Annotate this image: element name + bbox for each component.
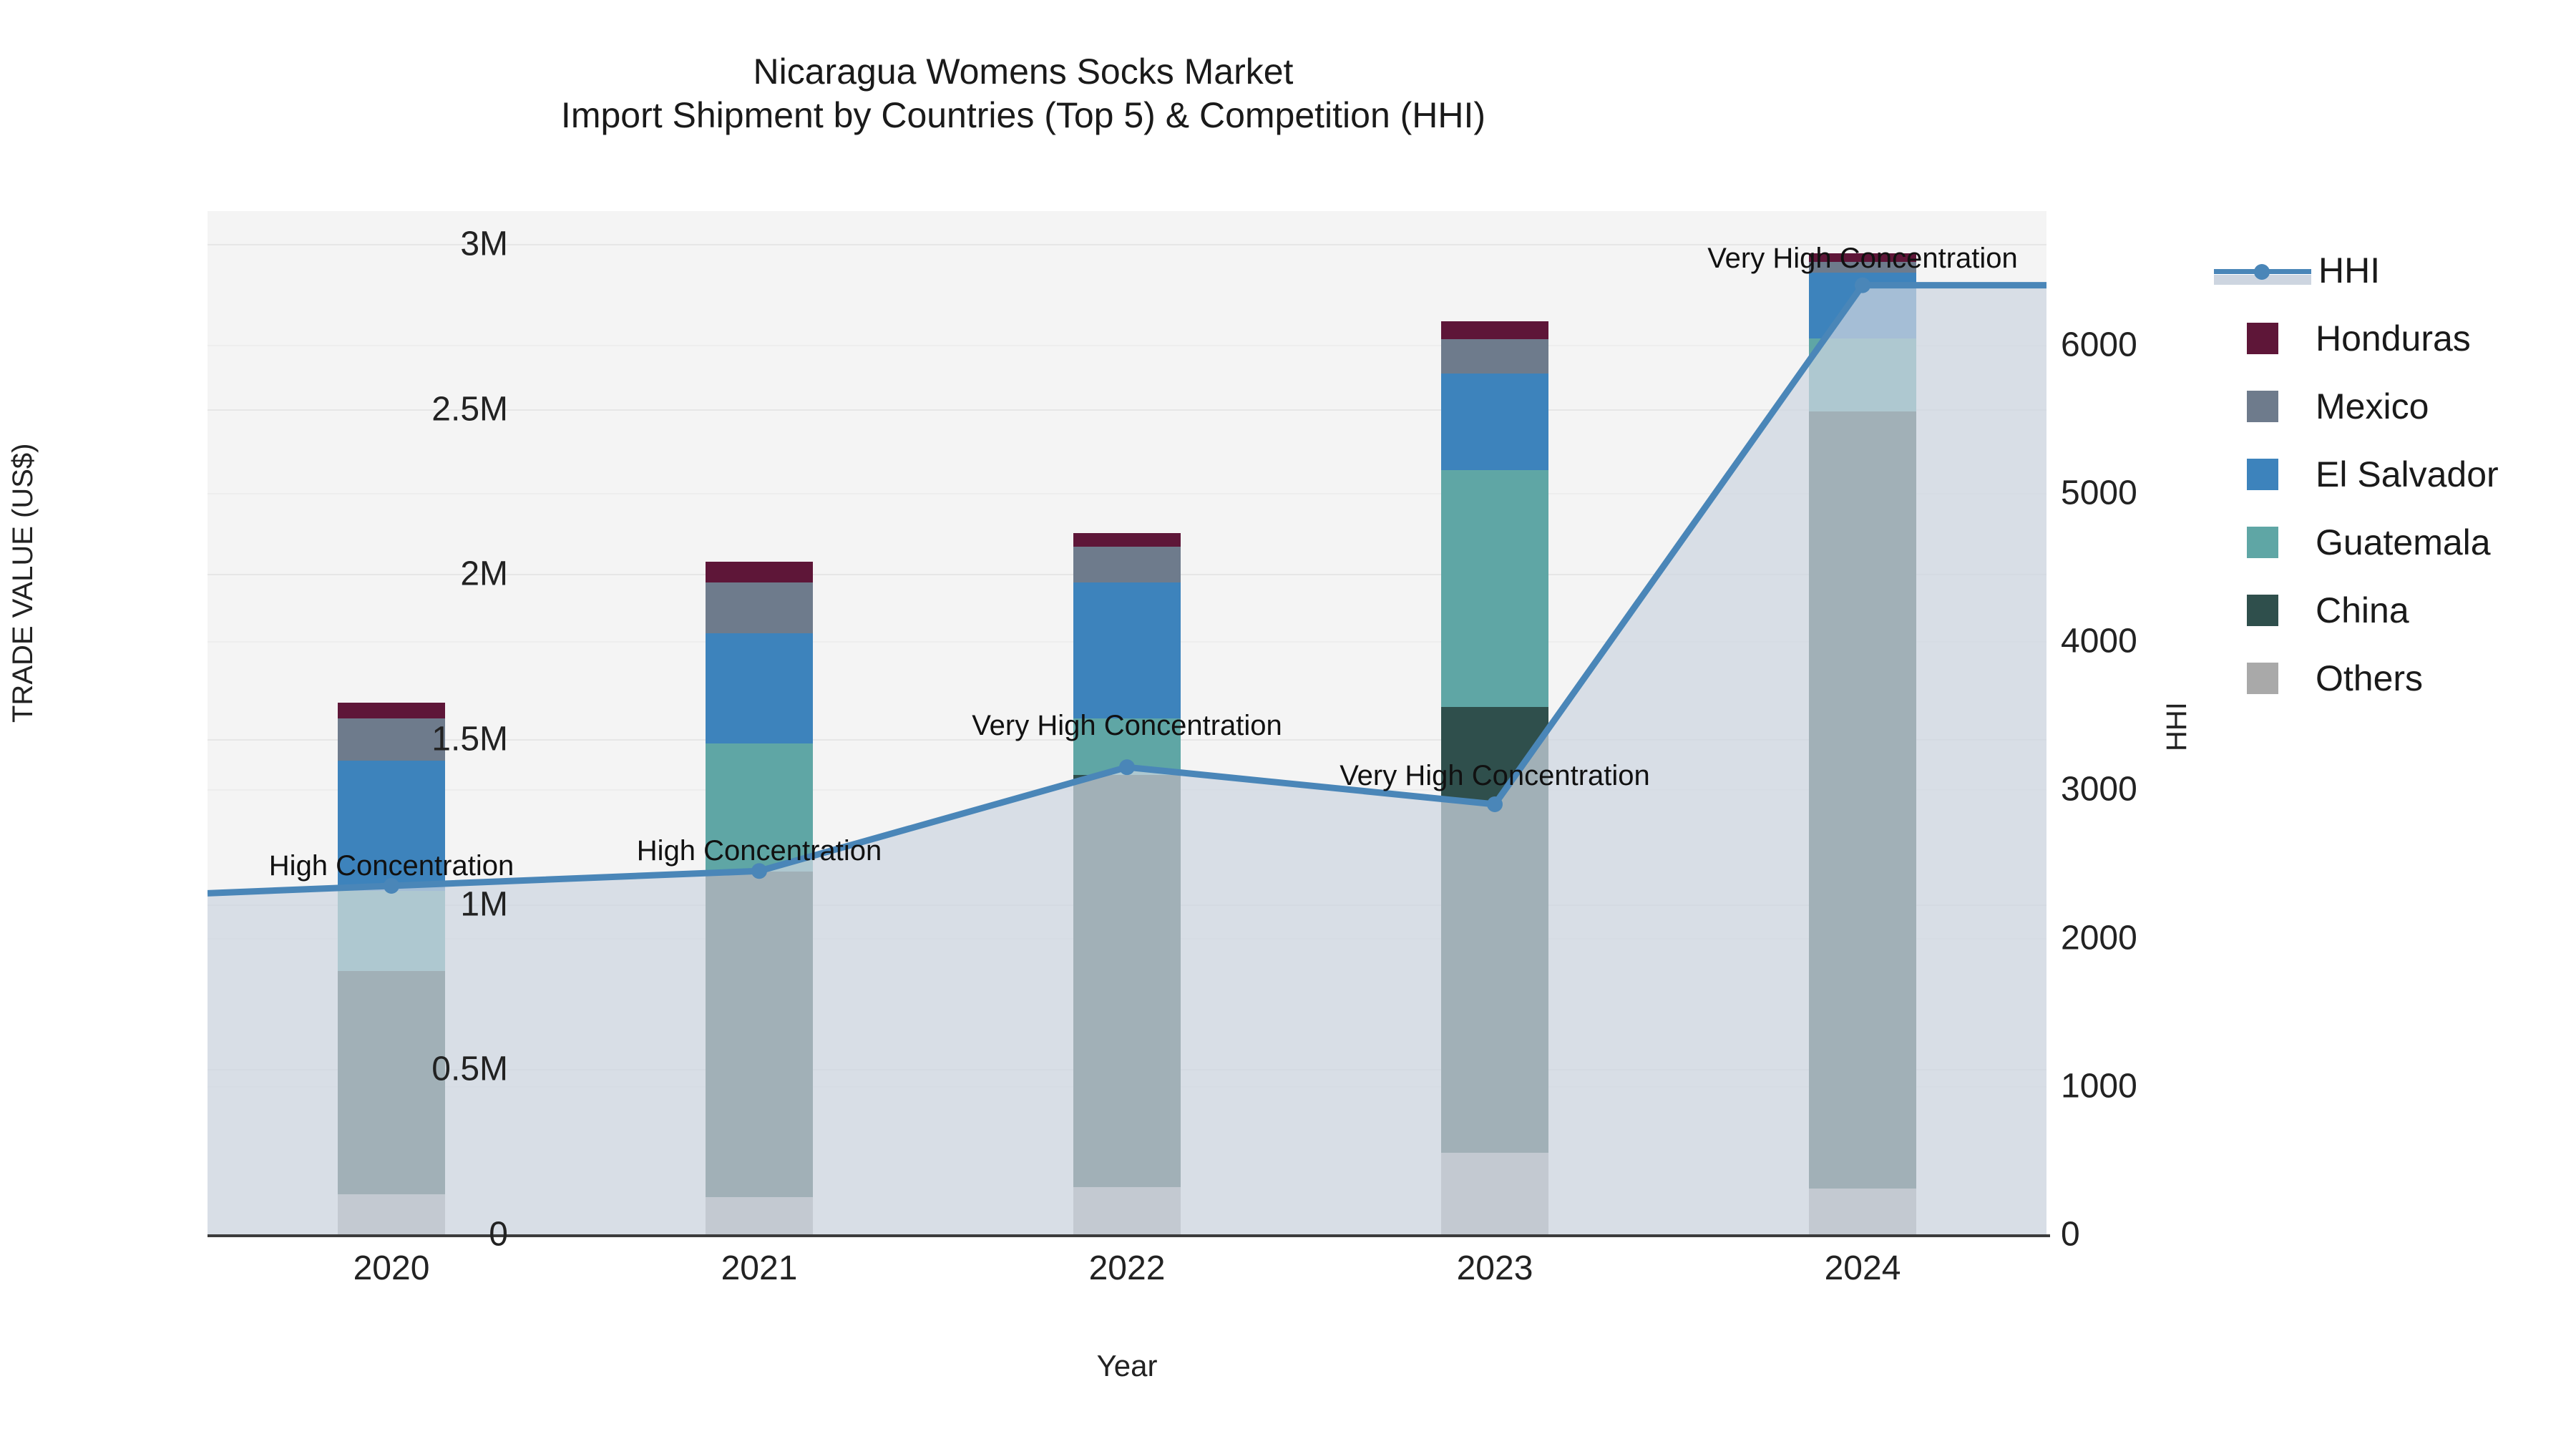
chart-container: Nicaragua Womens Socks Market Import Shi… [0, 0, 2576, 1449]
legend-item-mexico[interactable]: Mexico [2218, 372, 2576, 440]
legend: HHIHondurasMexicoEl SalvadorGuatemalaChi… [2218, 236, 2576, 712]
legend-swatch-icon [2247, 595, 2278, 626]
legend-item-label: Guatemala [2316, 522, 2491, 563]
legend-item-el-salvador[interactable]: El Salvador [2218, 440, 2576, 508]
legend-line-dot [2254, 264, 2270, 280]
y-axis-right-title: HHI [2161, 702, 2193, 751]
legend-item-guatemala[interactable]: Guatemala [2218, 508, 2576, 576]
legend-swatch-icon [2247, 323, 2278, 354]
annotation-2024: Very High Concentration [1707, 243, 2018, 275]
legend-item-honduras[interactable]: Honduras [2218, 304, 2576, 372]
y-axis-left-title: TRADE VALUE (US$) [7, 444, 39, 723]
legend-swatch-icon [2247, 663, 2278, 694]
legend-item-label: China [2316, 590, 2409, 631]
legend-item-label: HHI [2318, 250, 2380, 291]
legend-swatch-icon [2247, 391, 2278, 422]
annotation-2023: Very High Concentration [1340, 760, 1650, 792]
legend-swatch-icon [2247, 527, 2278, 558]
legend-item-label: Others [2316, 658, 2423, 699]
legend-item-hhi[interactable]: HHI [2218, 236, 2576, 304]
legend-line-icon [2214, 255, 2311, 286]
legend-item-others[interactable]: Others [2218, 644, 2576, 712]
legend-item-label: El Salvador [2316, 454, 2499, 495]
x-axis-title: Year [208, 1349, 2046, 1383]
legend-item-label: Mexico [2316, 386, 2429, 427]
legend-item-label: Honduras [2316, 318, 2471, 359]
annotation-2021: High Concentration [637, 835, 882, 867]
legend-item-china[interactable]: China [2218, 576, 2576, 644]
annotation-2022: Very High Concentration [972, 710, 1282, 742]
legend-swatch-icon [2247, 459, 2278, 490]
annotation-2020: High Concentration [269, 850, 514, 882]
